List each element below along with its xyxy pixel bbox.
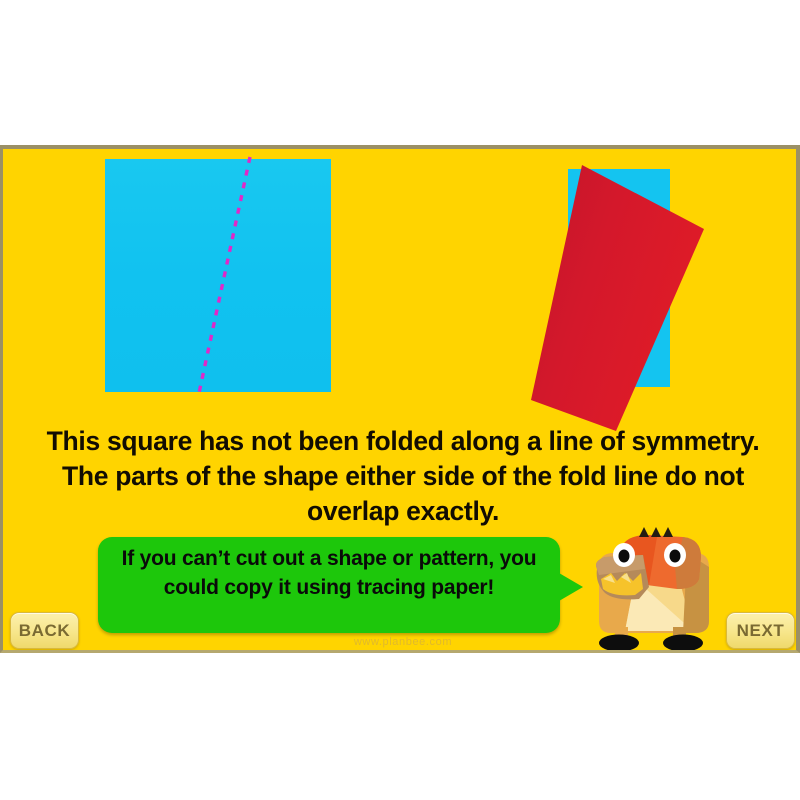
red-folded-flap (518, 157, 718, 432)
back-button[interactable]: BACK (10, 612, 79, 649)
shape-illustration-area (3, 149, 800, 439)
back-button-label: BACK (19, 621, 71, 641)
page-caption: This square has not been folded along a … (38, 424, 768, 529)
cyan-square-unfolded (105, 159, 331, 392)
speech-bubble-tail (559, 573, 583, 601)
tip-speech-bubble: If you can’t cut out a shape or pattern,… (98, 537, 560, 633)
slide-viewer: This square has not been folded along a … (0, 0, 800, 800)
tip-speech-bubble-text: If you can’t cut out a shape or pattern,… (98, 545, 560, 602)
next-button[interactable]: NEXT (726, 612, 795, 649)
lesson-slide: This square has not been folded along a … (0, 145, 800, 653)
watermark: www.planbee.com (3, 636, 800, 648)
dinosaur-mascot (591, 527, 713, 653)
next-button-label: NEXT (737, 621, 785, 641)
